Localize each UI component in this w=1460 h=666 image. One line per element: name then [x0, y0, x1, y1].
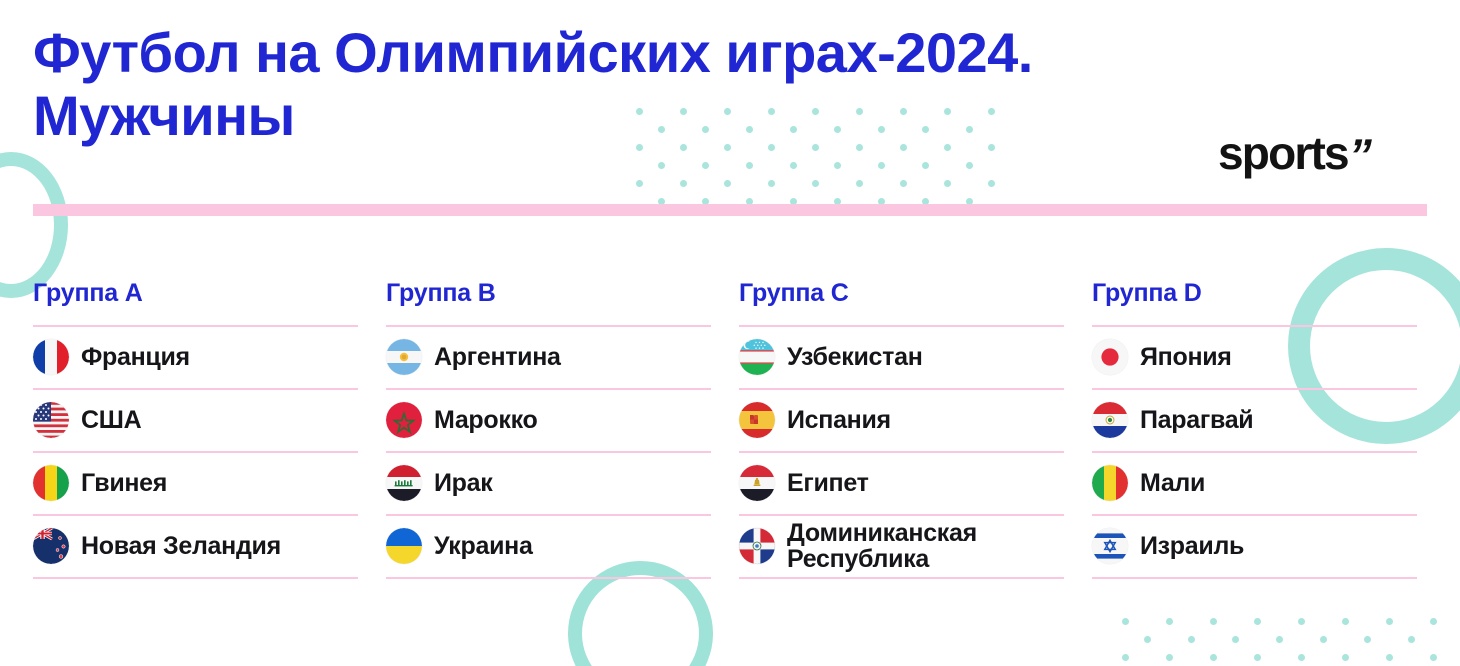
flag-paraguay-icon: [1092, 402, 1128, 438]
team-name: Ирак: [434, 470, 492, 497]
team-name: США: [81, 407, 141, 434]
decorative-dot: [1254, 654, 1261, 661]
decorative-dot: [1144, 636, 1151, 643]
decorative-dot: [1386, 654, 1393, 661]
team-list: АргентинаМароккоИракУкраина: [386, 325, 711, 579]
group-column: Группа CУзбекистанИспанияЕгипетДоминикан…: [739, 280, 1064, 579]
team-name: Марокко: [434, 407, 537, 434]
decorative-dot: [1166, 654, 1173, 661]
decorative-dot: [1342, 618, 1349, 625]
group-title: Группа B: [386, 280, 711, 308]
team-row[interactable]: Аргентина: [386, 327, 711, 390]
group-column: Группа BАргентинаМароккоИракУкраина: [386, 280, 711, 579]
decorative-dot: [1298, 654, 1305, 661]
team-row[interactable]: Ирак: [386, 453, 711, 516]
team-row[interactable]: Египет: [739, 453, 1064, 516]
team-name: Гвинея: [81, 470, 167, 497]
decorative-dot: [1254, 618, 1261, 625]
sports-logo[interactable]: sports ”: [1218, 130, 1372, 178]
team-name: Парагвай: [1140, 407, 1253, 434]
flag-japan-icon: [1092, 339, 1128, 375]
flag-mali-icon: [1092, 465, 1128, 501]
team-row[interactable]: Марокко: [386, 390, 711, 453]
group-title: Группа C: [739, 280, 1064, 308]
infographic-page: Футбол на Олимпийских играх-2024. Мужчин…: [0, 0, 1460, 666]
team-row[interactable]: Япония: [1092, 327, 1417, 390]
flag-spain-icon: [739, 402, 775, 438]
flag-uzbekistan-icon: [739, 339, 775, 375]
team-row[interactable]: Доминиканская Республика: [739, 516, 1064, 579]
team-name: Доминиканская Республика: [787, 520, 977, 573]
flag-france-icon: [33, 339, 69, 375]
sports-logo-mark-icon: ”: [1344, 132, 1377, 178]
group-title: Группа D: [1092, 280, 1417, 308]
team-name: Япония: [1140, 344, 1232, 371]
decorative-dot: [1166, 618, 1173, 625]
group-title: Группа A: [33, 280, 358, 308]
team-row[interactable]: Мали: [1092, 453, 1417, 516]
groups-container: Группа AФранцияСШАГвинеяНовая ЗеландияГр…: [33, 280, 1427, 579]
group-column: Группа AФранцияСШАГвинеяНовая Зеландия: [33, 280, 358, 579]
flag-ukraine-icon: [386, 528, 422, 564]
decorative-dot: [1364, 636, 1371, 643]
sports-logo-text: sports: [1218, 130, 1348, 176]
flag-usa-icon: [33, 402, 69, 438]
flag-guinea-icon: [33, 465, 69, 501]
team-row[interactable]: Узбекистан: [739, 327, 1064, 390]
decorative-dot: [1320, 636, 1327, 643]
decorative-dot: [1276, 636, 1283, 643]
flag-morocco-icon: [386, 402, 422, 438]
team-name: Узбекистан: [787, 344, 923, 371]
team-row[interactable]: Израиль: [1092, 516, 1417, 579]
team-list: ФранцияСШАГвинеяНовая Зеландия: [33, 325, 358, 579]
team-row[interactable]: Украина: [386, 516, 711, 579]
header: Футбол на Олимпийских играх-2024. Мужчин…: [0, 0, 1460, 215]
group-column: Группа DЯпонияПарагвайМалиИзраиль: [1092, 280, 1417, 579]
team-name: Египет: [787, 470, 869, 497]
decorative-dot: [1430, 654, 1437, 661]
team-name: Новая Зеландия: [81, 533, 281, 560]
decorative-dot: [1430, 618, 1437, 625]
team-row[interactable]: США: [33, 390, 358, 453]
flag-iraq-icon: [386, 465, 422, 501]
decorative-dot: [1210, 618, 1217, 625]
decorative-dot: [1122, 654, 1129, 661]
flag-argentina-icon: [386, 339, 422, 375]
team-name: Мали: [1140, 470, 1205, 497]
page-title: Футбол на Олимпийских играх-2024. Мужчин…: [33, 22, 1213, 147]
decorative-dot: [1232, 636, 1239, 643]
team-name: Украина: [434, 533, 533, 560]
decorative-dot: [1122, 618, 1129, 625]
decorative-dot: [1342, 654, 1349, 661]
flag-egypt-icon: [739, 465, 775, 501]
team-row[interactable]: Новая Зеландия: [33, 516, 358, 579]
team-name: Израиль: [1140, 533, 1244, 560]
team-name: Испания: [787, 407, 891, 434]
team-row[interactable]: Гвинея: [33, 453, 358, 516]
team-list: УзбекистанИспанияЕгипетДоминиканская Рес…: [739, 325, 1064, 579]
decorative-dot: [1408, 636, 1415, 643]
flag-israel-icon: [1092, 528, 1128, 564]
team-row[interactable]: Парагвай: [1092, 390, 1417, 453]
team-row[interactable]: Испания: [739, 390, 1064, 453]
team-list: ЯпонияПарагвайМалиИзраиль: [1092, 325, 1417, 579]
decorative-dot: [1188, 636, 1195, 643]
decorative-dot-grid-bottom-right: [1122, 618, 1460, 666]
team-name: Аргентина: [434, 344, 561, 371]
team-name: Франция: [81, 344, 190, 371]
decorative-dot: [1386, 618, 1393, 625]
flag-new-zealand-icon: [33, 528, 69, 564]
team-row[interactable]: Франция: [33, 327, 358, 390]
decorative-dot: [1210, 654, 1217, 661]
flag-dominican-republic-icon: [739, 528, 775, 564]
decorative-dot: [1298, 618, 1305, 625]
